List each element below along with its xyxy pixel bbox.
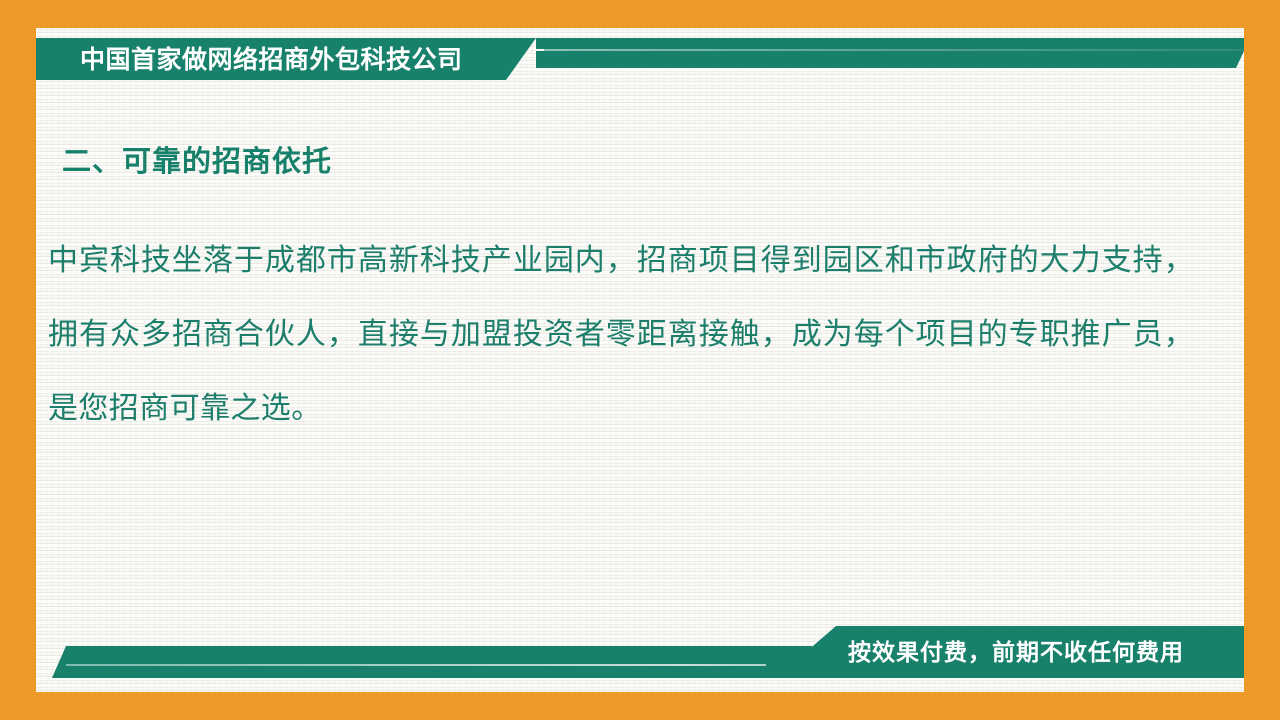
header-title: 中国首家做网络招商外包科技公司 — [80, 46, 463, 74]
section-heading: 二、可靠的招商依托 — [62, 138, 332, 180]
header-divider-line — [544, 49, 1244, 51]
header-accent-bar-top — [536, 38, 1244, 49]
slide-canvas: 中国首家做网络招商外包科技公司 二、可靠的招商依托 中宾科技坐落于成都市高新科技… — [36, 28, 1244, 692]
body-paragraph: 中宾科技坐落于成都市高新科技产业园内，招商项目得到园区和市政府的大力支持，拥有众… — [48, 224, 1194, 446]
footer-divider-line — [66, 664, 766, 666]
footer-tagline: 按效果付费，前期不收任何费用 — [848, 634, 1184, 670]
slide-root: 中国首家做网络招商外包科技公司 二、可靠的招商依托 中宾科技坐落于成都市高新科技… — [0, 0, 1280, 720]
footer-accent-bar — [52, 646, 812, 678]
header-accent-bar-bottom — [536, 51, 1244, 68]
